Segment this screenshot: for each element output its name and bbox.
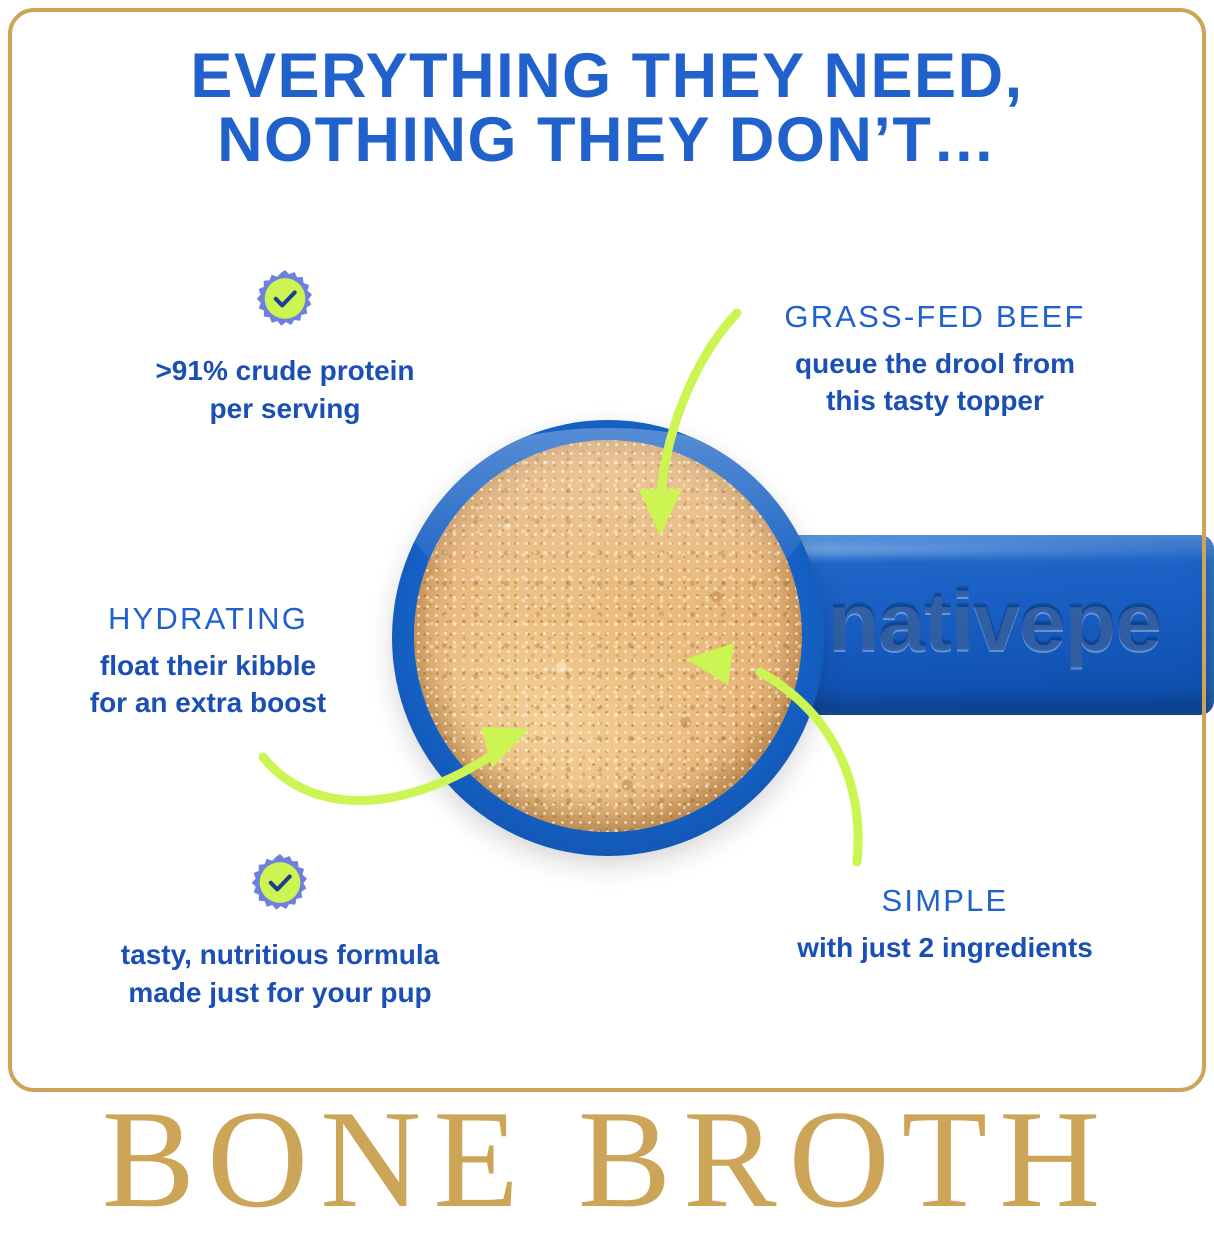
product-wordmark: BONE BROTH <box>0 1090 1214 1230</box>
bullet-formula-line-1: tasty, nutritious formula <box>121 939 439 970</box>
callout-hydrating-line-1: float their kibble <box>100 650 316 681</box>
bone-broth-powder <box>414 440 802 832</box>
callout-simple: SIMPLE with just 2 ingredients <box>760 884 1130 967</box>
callout-beef-line-2: this tasty topper <box>826 385 1044 416</box>
callout-hydrating-body: float their kibble for an extra boost <box>38 648 378 722</box>
callout-simple-heading: SIMPLE <box>760 884 1130 918</box>
callout-beef-body: queue the drool from this tasty topper <box>735 346 1135 420</box>
scoop-brand-emboss: nativepe <box>828 579 1161 663</box>
check-badge-icon <box>249 852 311 914</box>
scoop-bowl <box>392 420 824 856</box>
scoop-handle: nativepe <box>790 535 1214 715</box>
callout-beef-line-1: queue the drool from <box>795 348 1075 379</box>
bullet-protein-line-1: >91% crude protein <box>155 355 414 386</box>
headline-line-1: EVERYTHING THEY NEED, <box>0 44 1214 108</box>
bullet-protein-text: >91% crude protein per serving <box>110 352 460 427</box>
bullet-formula: tasty, nutritious formula made just for … <box>85 852 475 1011</box>
callout-hydrating-heading: HYDRATING <box>38 602 378 636</box>
infographic-stage: nativepe .arw { fill:none; stroke:#ccf55… <box>0 0 1214 1214</box>
callout-beef-heading: GRASS-FED BEEF <box>735 300 1135 334</box>
callout-grass-fed-beef: GRASS-FED BEEF queue the drool from this… <box>735 300 1135 420</box>
callout-simple-body: with just 2 ingredients <box>760 930 1130 967</box>
callout-hydrating: HYDRATING float their kibble for an extr… <box>38 602 378 722</box>
bullet-protein-line-2: per serving <box>210 393 361 424</box>
bullet-formula-text: tasty, nutritious formula made just for … <box>85 936 475 1011</box>
headline-line-2: NOTHING THEY DON’T… <box>0 108 1214 172</box>
check-badge-icon <box>254 268 316 330</box>
page-title: EVERYTHING THEY NEED, NOTHING THEY DON’T… <box>0 44 1214 173</box>
callout-hydrating-line-2: for an extra boost <box>90 687 326 718</box>
bullet-protein: >91% crude protein per serving <box>110 268 460 427</box>
callout-simple-line-1: with just 2 ingredients <box>797 932 1093 963</box>
bullet-formula-line-2: made just for your pup <box>128 977 431 1008</box>
